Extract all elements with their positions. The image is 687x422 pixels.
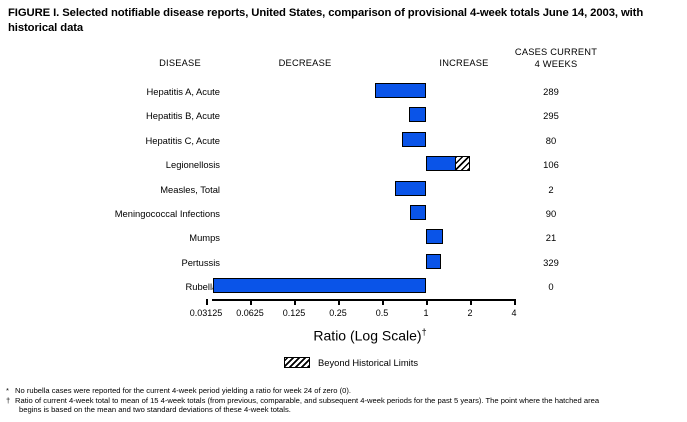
disease-label: Legionellosis — [20, 159, 220, 170]
cases-current-4-weeks-value: 90 — [508, 208, 594, 219]
disease-label: Mumps — [20, 232, 220, 243]
ratio-bar — [402, 132, 426, 147]
legend: Beyond Historical Limits — [284, 357, 418, 368]
ratio-bar — [395, 181, 426, 196]
cases-current-4-weeks-value: 295 — [508, 110, 594, 121]
chart-row: Hepatitis A, Acute289 — [0, 79, 687, 103]
x-axis-tick — [250, 299, 252, 305]
footnote-text: Ratio of current 4-week total to mean of… — [15, 396, 599, 405]
cases-current-4-weeks-value: 2 — [508, 184, 594, 195]
x-axis-tick — [338, 299, 340, 305]
x-axis-title-dagger: † — [422, 327, 427, 337]
ratio-bar — [375, 83, 426, 98]
chart-row: Mumps21 — [0, 225, 687, 249]
cases-current-4-weeks-value: 106 — [508, 159, 594, 170]
ratio-bar — [426, 229, 443, 244]
x-axis-tick — [514, 299, 516, 305]
disease-label: Measles, Total — [20, 184, 220, 195]
x-axis-tick — [382, 299, 384, 305]
x-axis-title-text: Ratio (Log Scale) — [313, 328, 421, 344]
x-axis-tick-label: 4 — [488, 308, 540, 318]
chart-row: Rubella*0 — [0, 274, 687, 298]
chart-row: Meningococcal Infections90 — [0, 201, 687, 225]
chart-row: Hepatitis B, Acute295 — [0, 103, 687, 127]
legend-label: Beyond Historical Limits — [318, 357, 418, 368]
footnotes: *No rubella cases were reported for the … — [6, 386, 684, 415]
cases-current-4-weeks-value: 80 — [508, 135, 594, 146]
chart-row: Hepatitis C, Acute80 — [0, 128, 687, 152]
disease-label: Hepatitis A, Acute — [20, 86, 220, 97]
hatched-swatch-icon — [284, 357, 310, 368]
chart-row: Pertussis329 — [0, 250, 687, 274]
chart-row: Legionellosis106 — [0, 152, 687, 176]
cases-current-4-weeks-value: 289 — [508, 86, 594, 97]
footnote: †Ratio of current 4-week total to mean o… — [6, 396, 684, 414]
ratio-bar — [213, 278, 426, 293]
ratio-bar — [409, 107, 426, 122]
disease-label: Rubella* — [20, 281, 220, 292]
disease-label: Hepatitis B, Acute — [20, 110, 220, 121]
cases-current-4-weeks-value: 21 — [508, 232, 594, 243]
chart-row: Measles, Total2 — [0, 177, 687, 201]
cases-current-4-weeks-value: 329 — [508, 257, 594, 268]
footnote-text-continued: begins is based on the mean and two stan… — [15, 405, 684, 414]
disease-label: Meningococcal Infections — [20, 208, 220, 219]
beyond-historical-limits-bar-segment — [455, 156, 470, 171]
disease-label: Hepatitis C, Acute — [20, 135, 220, 146]
disease-label: Pertussis — [20, 257, 220, 268]
ratio-bar — [410, 205, 426, 220]
ratio-bar — [426, 156, 457, 171]
x-axis-tick — [206, 299, 208, 305]
ratio-bar — [426, 254, 441, 269]
x-axis-tick — [470, 299, 472, 305]
footnote: *No rubella cases were reported for the … — [6, 386, 684, 395]
x-axis-tick — [426, 299, 428, 305]
cases-current-4-weeks-value: 0 — [508, 281, 594, 292]
footnote-text: No rubella cases were reported for the c… — [15, 386, 351, 395]
x-axis-tick — [294, 299, 296, 305]
x-axis-title: Ratio (Log Scale)† — [250, 327, 490, 344]
footnote-marker: † — [6, 396, 10, 405]
footnote-marker: * — [6, 386, 9, 395]
